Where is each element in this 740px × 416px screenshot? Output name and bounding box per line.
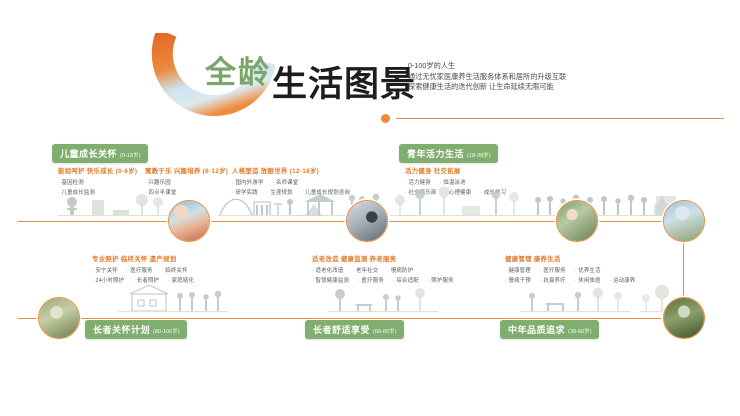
group-item: 综合适配	[393, 276, 419, 284]
badge-age-range: (18-38岁)	[467, 151, 491, 159]
badge-child-growth-care[interactable]: 儿童成长关怀 (0-18岁)	[52, 144, 148, 163]
group-item: 恒温泳池	[440, 178, 466, 186]
group-heading: 适老改造 健康监测 养老服务	[312, 254, 454, 263]
infographic-canvas: 全龄 生活图景 0-100岁的人生 通过无忧家医康养生活服务体系和居所的升级互联…	[0, 0, 740, 416]
header-rule	[396, 118, 724, 119]
page-title-primary: 全龄	[205, 47, 271, 92]
scene-silhouette-garden-seat	[328, 284, 438, 318]
scene-silhouette-city-park	[400, 186, 530, 222]
photo-image	[664, 201, 704, 241]
header-rule-dot	[381, 114, 390, 123]
group-item-row: 智慧健康监测 医疗服务 综合适配 照护服务	[312, 276, 454, 284]
subtitle-line-3: 探索健康生活的迭代创新 让生命延续无限可能	[408, 82, 566, 93]
group-item: 慢病防护	[387, 266, 413, 274]
group-item: 名师课堂	[272, 178, 298, 186]
header: 全龄 生活图景 0-100岁的人生 通过无忧家医康养生活服务体系和居所的升级互联…	[0, 0, 740, 135]
badge-age-range: (60-80岁)	[373, 327, 397, 335]
group-item: 医疗服务	[127, 266, 153, 274]
group-item-row: 基因检测	[58, 178, 137, 186]
photo-image	[557, 201, 597, 241]
group-item-row: 适老化改造 老年社交 慢病防护	[312, 266, 454, 274]
group-heading: 活力健身 社交拓展	[405, 166, 506, 175]
badge-label: 儿童成长关怀	[60, 147, 117, 160]
badge-elder-care-plan[interactable]: 长者关怀计划 (80-100岁)	[85, 320, 187, 339]
group-item-list: 适老化改造 老年社交 慢病防护 智慧健康监测 医疗服务 综合适配 照护服务	[312, 266, 454, 284]
badge-label: 青年活力生活	[407, 147, 464, 160]
header-subtitle: 0-100岁的人生 通过无忧家医康养生活服务体系和居所的升级互联 探索健康生活的…	[408, 61, 566, 93]
photo-elder-stroll[interactable]	[663, 297, 705, 339]
badge-age-range: (38-60岁)	[568, 327, 592, 335]
group-item: 国内外游学	[232, 178, 263, 186]
photo-couple-walk[interactable]	[663, 200, 705, 242]
group-item-row: 国内外游学 名师课堂	[232, 178, 350, 186]
badge-label: 中年品质追求	[508, 323, 565, 336]
badge-age-range: (0-18岁)	[120, 151, 141, 159]
group-item: 抗衰养疗	[540, 276, 566, 284]
group-heading: 健康管理 康养生活	[505, 254, 636, 263]
group-item-row: 安宁关怀 医疗服务 临终关怀	[92, 266, 194, 274]
scene-silhouette-house	[118, 282, 228, 318]
group-item: 智慧健康监测	[312, 276, 349, 284]
group-heading: 能验呵护 快乐成长 (0-6岁)	[58, 166, 137, 175]
badge-youth-vitality-life[interactable]: 青年活力生活 (18-38岁)	[399, 144, 498, 163]
badge-age-range: (80-100岁)	[153, 327, 180, 335]
group-item-row: 活力健身 恒温泳池	[405, 178, 506, 186]
group-item: 照护服务	[428, 276, 454, 284]
group-item: 医疗服务	[358, 276, 384, 284]
group-elder-care-0: 专业照护 临终关怀 遗产规划 安宁关怀 医疗服务 临终关怀 24小时照护 长者照…	[92, 254, 194, 284]
group-item: 临终关怀	[162, 266, 188, 274]
photo-teen-study[interactable]	[346, 200, 388, 242]
page-title-secondary: 生活图景	[272, 56, 416, 107]
photo-image	[347, 201, 387, 241]
group-item: 运动康养	[610, 276, 636, 284]
badge-label: 长者关怀计划	[93, 323, 150, 336]
group-item: 适老化改造	[312, 266, 343, 274]
badge-elder-comfort-enjoyment[interactable]: 长者舒适享受 (60-80岁)	[305, 320, 404, 339]
group-item: 活力健身	[405, 178, 431, 186]
group-heading: 人格塑造 放眼世界 (12-18岁)	[232, 166, 350, 175]
group-item: 慢病干预	[505, 276, 531, 284]
group-heading: 寓教于乐 兴趣培养 (6-12岁)	[145, 166, 228, 175]
photo-image	[664, 298, 704, 338]
photo-elder-rest[interactable]	[38, 297, 80, 339]
group-item-list: 健康管理 医疗服务 优养生活 慢病干预 抗衰养疗 休闲旅居 运动康养	[505, 266, 636, 284]
group-item: 休闲旅居	[575, 276, 601, 284]
photo-image	[169, 201, 209, 241]
group-elder-comfort-0: 适老改造 健康监测 养老服务 适老化改造 老年社交 慢病防护 智慧健康监测 医疗…	[312, 254, 454, 284]
group-item: 优养生活	[575, 266, 601, 274]
subtitle-line-1: 0-100岁的人生	[408, 61, 566, 72]
photo-youth-sport[interactable]	[556, 200, 598, 242]
group-item-row: 兴趣乐园	[145, 178, 228, 186]
group-item: 医疗服务	[540, 266, 566, 274]
photo-image	[39, 298, 79, 338]
scene-silhouette-playground	[58, 192, 168, 222]
group-heading: 专业照护 临终关怀 遗产规划	[92, 254, 194, 263]
badge-midlife-quality-pursuit[interactable]: 中年品质追求 (38-60岁)	[500, 320, 599, 339]
scene-silhouette-leisure	[520, 284, 630, 318]
group-item: 基因检测	[58, 178, 84, 186]
group-midlife-0: 健康管理 康养生活 健康管理 医疗服务 优养生活 慢病干预 抗衰养疗 休闲旅居 …	[505, 254, 636, 284]
group-item: 兴趣乐园	[145, 178, 171, 186]
subtitle-line-2: 通过无忧家医康养生活服务体系和居所的升级互联	[408, 72, 566, 83]
group-item-row: 慢病干预 抗衰养疗 休闲旅居 运动康养	[505, 276, 636, 284]
group-item-row: 健康管理 医疗服务 优养生活	[505, 266, 636, 274]
photo-children-play[interactable]	[168, 200, 210, 242]
group-item: 健康管理	[505, 266, 531, 274]
group-item: 安宁关怀	[92, 266, 118, 274]
badge-label: 长者舒适享受	[313, 323, 370, 336]
group-item: 老年社交	[352, 266, 378, 274]
